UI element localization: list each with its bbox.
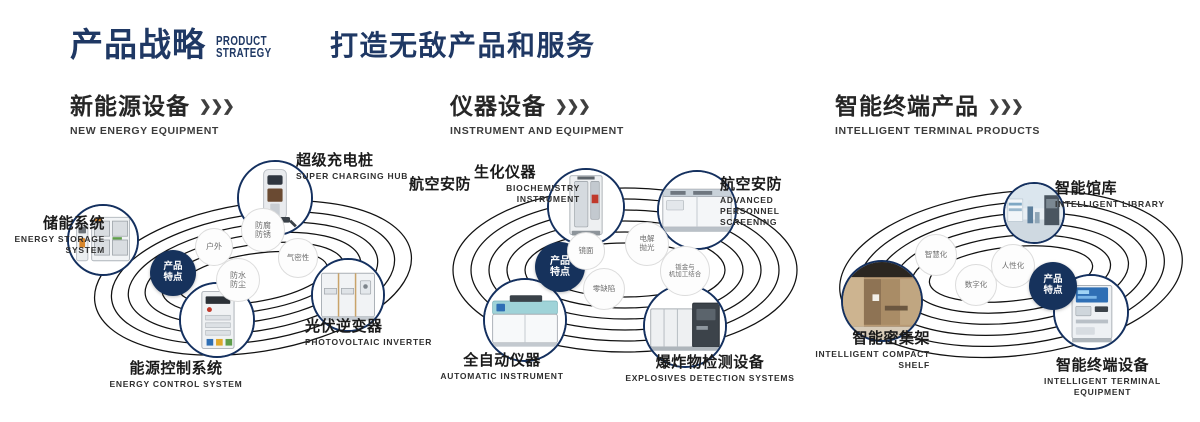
section-title-cn: 新能源设备 — [70, 95, 190, 120]
feature-label: 气密性 — [287, 254, 310, 263]
label-cn: 能源控制系统 — [86, 360, 266, 377]
section-title-cn: 仪器设备 — [450, 95, 546, 120]
feature-label: 零缺陷 — [593, 285, 616, 294]
label-energy-storage-system: 储能系统 ENERGY STORAGE SYSTEM — [0, 215, 105, 256]
label-cn: 航空安防 — [409, 176, 471, 193]
page-title: 产品战略 PRODUCT STRATEGY — [70, 28, 326, 61]
label-en: EXPLOSIVES DETECTION SYSTEMS — [620, 373, 800, 384]
feature-label-line1: 防腐 — [255, 221, 271, 230]
feature-bubble-waterproof: 防水 防尘 — [216, 258, 260, 302]
core-line2: 特点 — [550, 267, 570, 279]
feature-label: 户外 — [206, 242, 222, 251]
section-title-intelligent-terminal: 智能终端产品 ❯❯❯ INTELLIGENT TERMINAL PRODUCTS — [835, 95, 1040, 137]
feature-bubble-mirror-finish: 镜面 — [567, 232, 605, 270]
core-line2: 特点 — [1043, 286, 1062, 297]
label-cn: 全自动仪器 — [422, 352, 582, 369]
brand-title-en: PRODUCT STRATEGY — [216, 35, 302, 59]
label-en: INTELLIGENT COMPACT SHELF — [795, 349, 930, 370]
label-cn: 爆炸物检测设备 — [620, 354, 800, 371]
chevron-right-icon: ❯❯❯ — [988, 99, 1023, 116]
feature-label: 人性化 — [1002, 262, 1025, 271]
poster-canvas: 产品战略 PRODUCT STRATEGY 打造无敌产品和服务 新能源设备 ❯❯… — [0, 0, 1200, 422]
feature-bubble-sheetmetal-machining: 钣金与 机加工结合 — [660, 246, 710, 296]
feature-label-line2: 抛光 — [640, 244, 655, 253]
label-en: AUTOMATIC INSTRUMENT — [422, 371, 582, 382]
label-intelligent-compact-shelf: 智能密集架 INTELLIGENT COMPACT SHELF — [795, 330, 930, 371]
chevron-right-icon: ❯❯❯ — [199, 99, 234, 116]
label-photovoltaic-inverter: 光伏逆变器 PHOTOVOLTAIC INVERTER — [305, 318, 432, 348]
feature-label-line2: 防锈 — [255, 230, 271, 239]
core-badge-product-features: 产品 特点 — [1029, 262, 1077, 310]
label-cn: 智能馆库 — [1055, 180, 1165, 197]
label-super-charging-hub: 超级充电桩 SUPER CHARGING HUB — [296, 152, 408, 182]
section-title-new-energy: 新能源设备 ❯❯❯ NEW ENERGY EQUIPMENT — [70, 95, 234, 137]
feature-bubble-zero-defect: 零缺陷 — [583, 268, 625, 310]
feature-bubble-intelligent: 智慧化 — [915, 234, 957, 276]
page-subtitle: 打造无敌产品和服务 — [330, 32, 596, 60]
label-biochemistry-instrument: 生化仪器 BIOCHEMISTRY INSTRUMENT — [474, 164, 580, 205]
section-title-cn: 智能终端产品 — [835, 95, 979, 120]
feature-label: 镜面 — [579, 247, 594, 256]
label-energy-control-system: 能源控制系统 ENERGY CONTROL SYSTEM — [86, 360, 266, 390]
label-intelligent-terminal-equipment: 智能终端设备 INTELLIGENT TERMINAL EQUIPMENT — [1015, 357, 1190, 398]
label-en: INTELLIGENT TERMINAL EQUIPMENT — [1015, 376, 1190, 397]
label-cn: 生化仪器 — [474, 164, 580, 181]
label-en: INTELLIGENT LIBRARY — [1055, 199, 1165, 210]
section-title-en: NEW ENERGY EQUIPMENT — [70, 125, 234, 137]
label-cn: 超级充电桩 — [296, 152, 408, 169]
feature-label-line2: 机加工结合 — [669, 271, 702, 278]
feature-label: 智慧化 — [925, 251, 948, 260]
label-en: SUPER CHARGING HUB — [296, 171, 408, 182]
label-cn: 储能系统 — [0, 215, 105, 232]
section-title-en: INTELLIGENT TERMINAL PRODUCTS — [835, 125, 1040, 137]
label-automatic-instrument: 全自动仪器 AUTOMATIC INSTRUMENT — [422, 352, 582, 382]
label-aviation-security-left: 航空安防 — [409, 176, 471, 193]
label-intelligent-library: 智能馆库 INTELLIGENT LIBRARY — [1055, 180, 1165, 210]
feature-label-line1: 防水 — [230, 271, 246, 280]
core-line1: 产品 — [550, 256, 570, 268]
label-en: ENERGY CONTROL SYSTEM — [86, 379, 266, 390]
label-cn: 智能终端设备 — [1015, 357, 1190, 374]
feature-label: 数字化 — [965, 281, 988, 290]
feature-bubble-anticorrosion: 防腐 防锈 — [241, 208, 285, 252]
feature-label-line2: 防尘 — [230, 280, 246, 289]
brand-title-en-line2: STRATEGY — [216, 47, 302, 59]
section-title-instrument: 仪器设备 ❯❯❯ INSTRUMENT AND EQUIPMENT — [450, 95, 624, 137]
core-line2: 特点 — [163, 273, 182, 284]
label-en: PHOTOVOLTAIC INVERTER — [305, 337, 432, 348]
brand-title-cn: 产品战略 — [70, 28, 206, 61]
label-cn: 智能密集架 — [795, 330, 930, 347]
chevron-right-icon: ❯❯❯ — [555, 99, 590, 116]
auto-analyzer-icon — [485, 280, 565, 360]
core-badge-product-features: 产品 特点 — [150, 250, 196, 296]
section-title-en: INSTRUMENT AND EQUIPMENT — [450, 125, 624, 137]
label-cn: 光伏逆变器 — [305, 318, 432, 335]
label-explosives-detection-systems: 爆炸物检测设备 EXPLOSIVES DETECTION SYSTEMS — [620, 354, 800, 384]
label-en: BIOCHEMISTRY INSTRUMENT — [474, 183, 580, 204]
feature-bubble-airtightness: 气密性 — [278, 238, 318, 278]
label-en: ENERGY STORAGE SYSTEM — [0, 234, 105, 255]
